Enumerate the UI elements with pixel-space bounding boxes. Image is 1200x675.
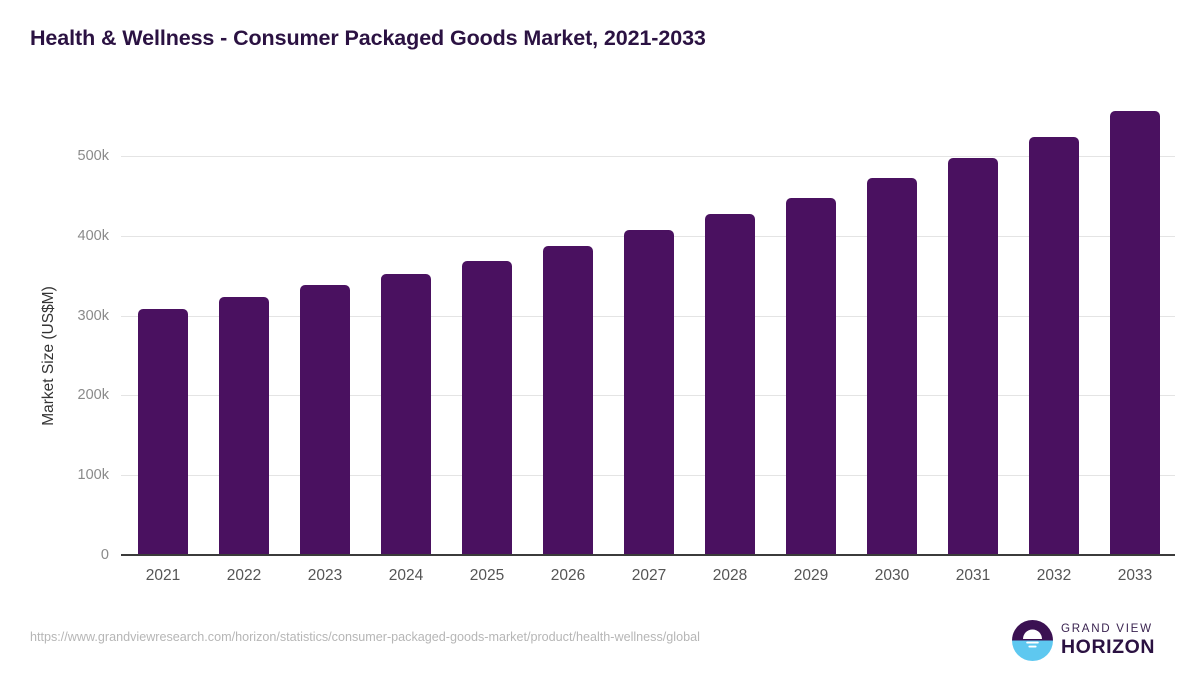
y-axis-tick-label: 0 [29,547,109,563]
y-axis-tick-label: 500k [29,148,109,164]
plot-area [121,156,1175,555]
y-axis-title: Market Size (US$M) [38,156,60,555]
y-axis-tick-label: 100k [29,467,109,483]
x-axis-tick-label: 2026 [528,567,608,585]
logo-line-grand-view: GRAND VIEW [1061,622,1155,636]
bar-2028[interactable] [705,214,755,555]
bar-2024[interactable] [381,274,431,555]
x-axis-tick-label: 2030 [852,567,932,585]
x-axis-tick-label: 2027 [609,567,689,585]
bar-2030[interactable] [867,178,917,555]
y-axis-tick-label: 400k [29,228,109,244]
bar-2033[interactable] [1110,111,1160,555]
bar-2022[interactable] [219,297,269,555]
sunrise-circle-icon [1012,620,1053,661]
logo-line-horizon: HORIZON [1061,636,1155,658]
bar-2021[interactable] [138,309,188,555]
x-axis-tick-label: 2025 [447,567,527,585]
x-axis-tick-label: 2021 [123,567,203,585]
bar-2029[interactable] [786,198,836,556]
x-axis-tick-label: 2032 [1014,567,1094,585]
page-title: Health & Wellness - Consumer Packaged Go… [30,26,706,51]
x-axis-tick-label: 2022 [204,567,284,585]
bar-2025[interactable] [462,261,512,555]
source-url[interactable]: https://www.grandviewresearch.com/horizo… [30,630,700,644]
logo-text: GRAND VIEW HORIZON [1061,622,1155,658]
x-axis-line [121,554,1175,556]
x-axis-tick-label: 2029 [771,567,851,585]
bar-2023[interactable] [300,285,350,555]
bar-2026[interactable] [543,246,593,555]
brand-logo[interactable]: GRAND VIEW HORIZON [1012,619,1172,663]
bar-2032[interactable] [1029,137,1079,555]
x-axis-tick-label: 2033 [1095,567,1175,585]
x-axis-tick-label: 2031 [933,567,1013,585]
bar-2027[interactable] [624,230,674,555]
y-axis-tick-label: 200k [29,387,109,403]
x-axis-tick-label: 2028 [690,567,770,585]
bar-2031[interactable] [948,158,998,555]
y-axis-tick-label: 300k [29,308,109,324]
chart-page: Health & Wellness - Consumer Packaged Go… [0,0,1200,675]
x-axis-tick-label: 2023 [285,567,365,585]
gridline [121,156,1175,157]
x-axis-tick-label: 2024 [366,567,446,585]
